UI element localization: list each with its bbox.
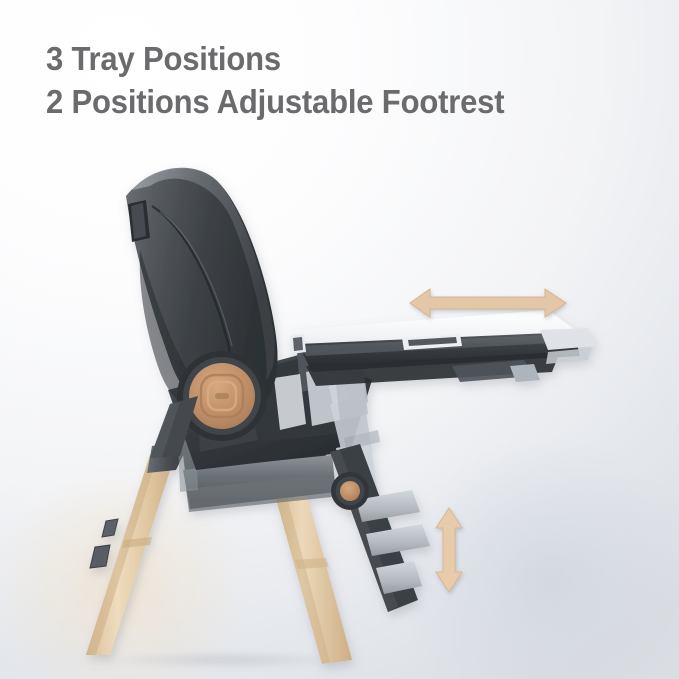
footrest-pivot[interactable] bbox=[331, 472, 369, 510]
brand-emboss-bar bbox=[215, 393, 229, 399]
product-feature-image: 3 Tray Positions 2 Positions Adjustable … bbox=[0, 0, 679, 679]
recline-hub[interactable] bbox=[177, 351, 267, 441]
footrest-adjust-arrow bbox=[436, 508, 462, 592]
tray-latch bbox=[290, 334, 306, 354]
high-chair-illustration bbox=[0, 0, 679, 679]
rear-leg-height-tabs bbox=[90, 519, 118, 568]
tray bbox=[290, 310, 596, 386]
